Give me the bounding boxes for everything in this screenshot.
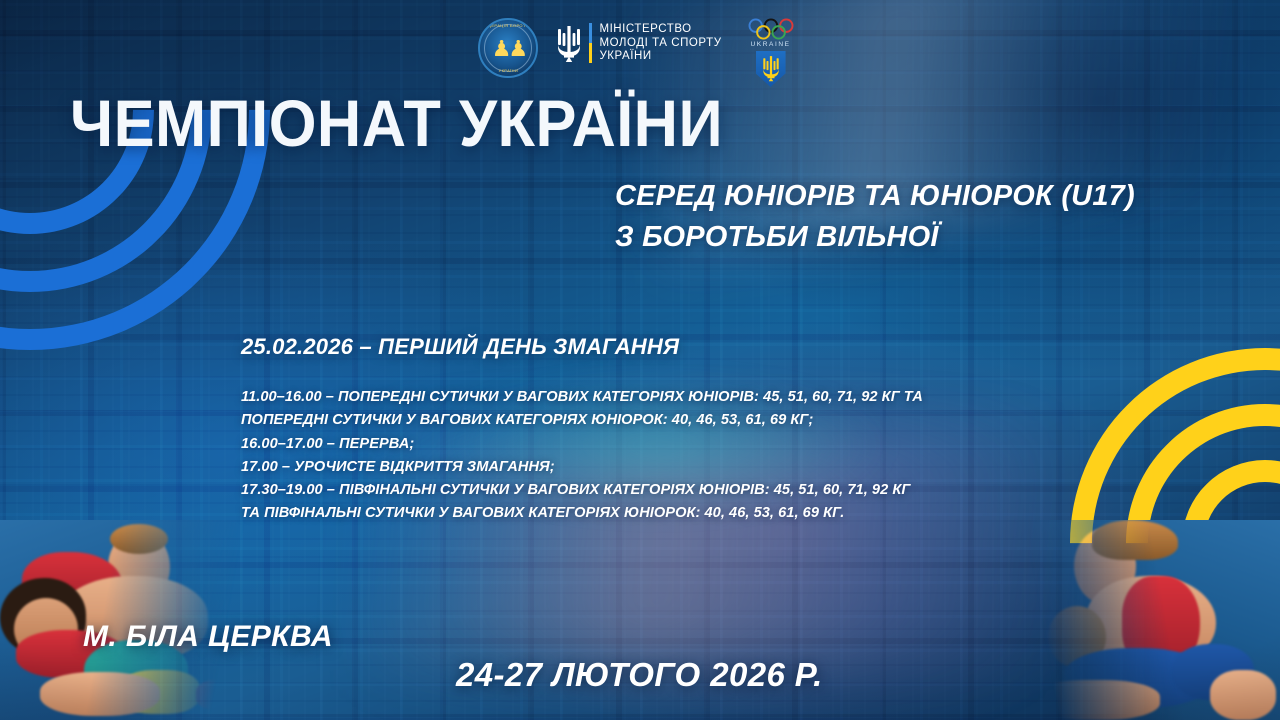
vignette-overlay [0,0,1280,720]
championship-poster: ФЕДЕРАЦІЯ БОРОТЬБИ ♟♟ УКРАЇНИ [0,0,1280,720]
